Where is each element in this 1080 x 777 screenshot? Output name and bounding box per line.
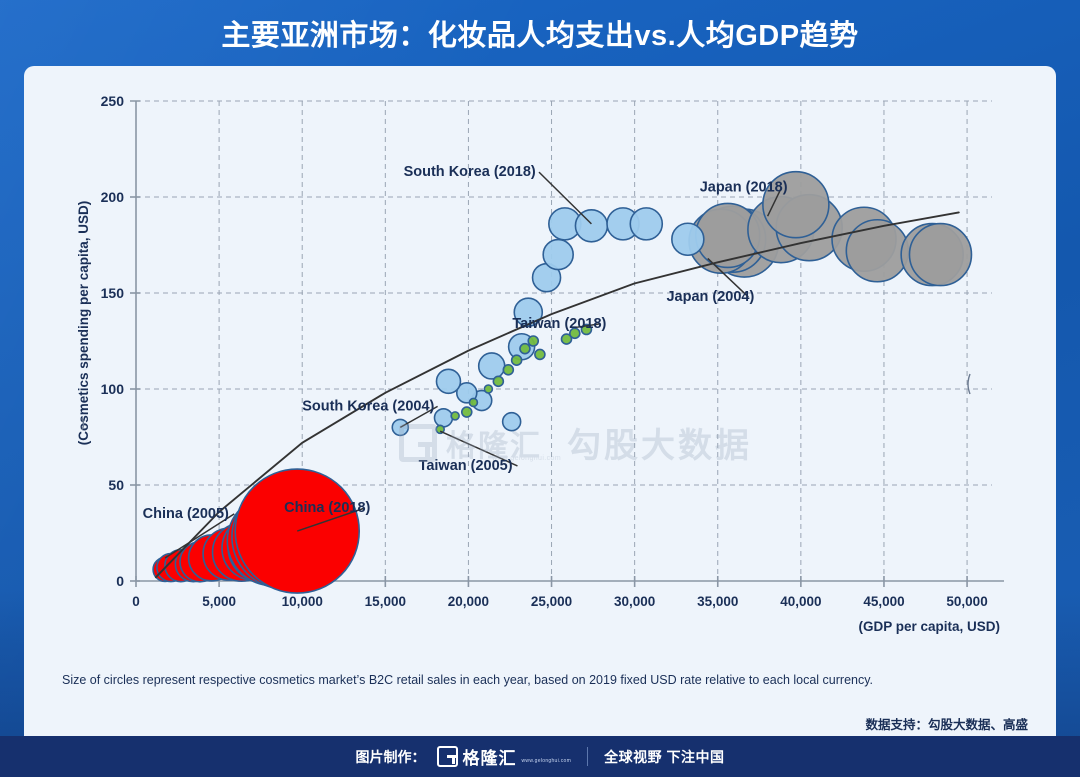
svg-text:150: 150 bbox=[101, 285, 125, 301]
annotation-label: Taiwan (2018) bbox=[512, 316, 606, 332]
bubble-japan-2014 bbox=[909, 224, 971, 286]
svg-text:40,000: 40,000 bbox=[780, 594, 821, 609]
svg-text:(Cosmetics spending per capita: (Cosmetics spending per capita, USD) bbox=[76, 201, 91, 446]
bubble-south-korea-2016 bbox=[575, 210, 607, 242]
bubble-south-korea-2005 bbox=[434, 409, 452, 427]
annotation-label: South Korea (2018) bbox=[404, 164, 536, 180]
svg-text:20,000: 20,000 bbox=[448, 594, 489, 609]
svg-text:0: 0 bbox=[132, 594, 140, 609]
bubble-taiwan-2009 bbox=[484, 385, 492, 393]
footer-made-by-label: 图片制作： bbox=[356, 747, 426, 767]
svg-text:50,000: 50,000 bbox=[946, 594, 987, 609]
annotation-label: Taiwan (2005) bbox=[419, 458, 513, 474]
page-title: 主要亚洲市场：化妆品人均支出vs.人均GDP趋势 bbox=[221, 12, 858, 54]
bubble-south-korea-2019 bbox=[672, 223, 704, 255]
svg-text:250: 250 bbox=[101, 93, 125, 109]
footer-brand: 格隆汇 bbox=[463, 744, 517, 769]
bubble-taiwan-2013 bbox=[520, 344, 530, 354]
bubble-series-china bbox=[153, 469, 359, 593]
bubble-taiwan-2014 bbox=[528, 336, 538, 346]
bubble-taiwan-2015 bbox=[535, 349, 545, 359]
annotation-label: Japan (2004) bbox=[666, 289, 754, 305]
annotation-label: South Korea (2004) bbox=[302, 398, 434, 414]
bubble-japan-2012 bbox=[846, 220, 908, 282]
chart-area: 05010015020025005,00010,00015,00020,0002… bbox=[24, 66, 1056, 646]
svg-text:30,000: 30,000 bbox=[614, 594, 655, 609]
bubble-taiwan-2008 bbox=[469, 398, 477, 406]
annotation-label: China (2018) bbox=[284, 500, 370, 516]
annotation-label: Japan (2018) bbox=[700, 179, 788, 195]
footer-logo: 格隆汇 www.gelonghui.com bbox=[437, 744, 572, 769]
chart-card: 05010015020025005,00010,00015,00020,0002… bbox=[24, 66, 1056, 736]
bubble-south-korea-2010 bbox=[479, 353, 505, 379]
bubble-south-korea-2014 bbox=[543, 240, 573, 270]
svg-text:0: 0 bbox=[116, 573, 124, 589]
bubble-south-korea-2009 bbox=[436, 369, 460, 393]
footer-slogan: 全球视野 下注中国 bbox=[604, 747, 724, 767]
footer-brand-url: www.gelonghui.com bbox=[522, 758, 572, 764]
svg-text:45,000: 45,000 bbox=[863, 594, 904, 609]
footer-divider bbox=[587, 747, 588, 766]
annotation-label: China (2005) bbox=[143, 506, 229, 522]
svg-text:35,000: 35,000 bbox=[697, 594, 738, 609]
bubble-taiwan-2006 bbox=[451, 412, 459, 420]
bubble-taiwan-2010 bbox=[493, 376, 503, 386]
svg-text:50: 50 bbox=[108, 477, 124, 493]
data-source-label: 数据支持：勾股大数据、高盛 bbox=[865, 714, 1028, 733]
bubble-south-korea-2007 bbox=[503, 413, 521, 431]
svg-text:25,000: 25,000 bbox=[531, 594, 572, 609]
brand-logo-icon bbox=[437, 746, 458, 767]
page-footer: 图片制作： 格隆汇 www.gelonghui.com 全球视野 下注中国 bbox=[0, 736, 1080, 777]
chart-footnote: Size of circles represent respective cos… bbox=[62, 672, 1022, 689]
svg-text:(GDP per capita, USD): (GDP per capita, USD) bbox=[858, 619, 1000, 634]
svg-text:200: 200 bbox=[101, 189, 125, 205]
svg-text:100: 100 bbox=[101, 381, 125, 397]
svg-text:5,000: 5,000 bbox=[202, 594, 236, 609]
bubble-taiwan-2007 bbox=[462, 407, 472, 417]
bubble-chart: 05010015020025005,00010,00015,00020,0002… bbox=[24, 66, 1056, 646]
page-title-bar: 主要亚洲市场：化妆品人均支出vs.人均GDP趋势 bbox=[0, 0, 1080, 66]
bubble-south-korea-2018 bbox=[630, 208, 662, 240]
svg-text:10,000: 10,000 bbox=[282, 594, 323, 609]
bubble-taiwan-2011 bbox=[503, 365, 513, 375]
bubble-taiwan-2012 bbox=[512, 355, 522, 365]
svg-text:15,000: 15,000 bbox=[365, 594, 406, 609]
